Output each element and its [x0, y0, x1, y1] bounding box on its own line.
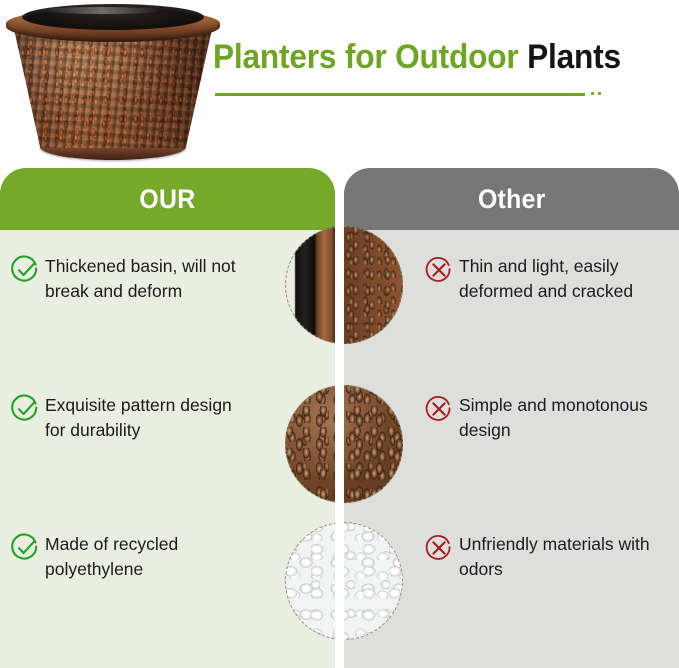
feature-text-ours-1: Thickened basin, will not break and defo… — [45, 254, 251, 304]
title-underline-dot — [591, 92, 594, 95]
wall-texture-overlay — [335, 226, 403, 344]
x-circle-icon — [424, 533, 454, 563]
wall-thickness-image — [285, 226, 403, 344]
pebble-pattern-image — [285, 385, 403, 503]
check-circle-icon — [10, 394, 40, 424]
panel-ours-header-label: OUR — [139, 184, 195, 215]
detail-photo-pebble-pattern — [285, 385, 403, 503]
check-circle-icon — [10, 255, 40, 285]
x-circle-icon — [424, 255, 454, 285]
check-circle-icon — [10, 533, 40, 563]
panel-ours-header: OUR — [0, 168, 335, 230]
feature-text-ours-2: Exquisite pattern design for durability — [45, 393, 251, 443]
feature-text-other-1: Thin and light, easily deformed and crac… — [459, 254, 671, 304]
pot-inner-highlight — [42, 7, 162, 14]
pebble-texture-overlay — [285, 385, 403, 503]
page-title: Planters for Outdoor Plants — [213, 40, 673, 76]
product-photo-planter — [4, 2, 222, 162]
comparison-table: OUR Thickened basin, will not break and … — [0, 168, 679, 668]
title-underline — [215, 93, 585, 96]
feature-text-ours-3: Made of recycled polyethylene — [45, 532, 251, 582]
pellets-image — [285, 522, 403, 640]
detail-photo-polyethylene-pellets — [285, 522, 403, 640]
feature-text-other-3: Unfriendly materials with odors — [459, 532, 671, 582]
title-underline-dot — [598, 92, 601, 95]
feature-text-other-2: Simple and monotonous design — [459, 393, 671, 443]
panel-divider — [335, 168, 344, 668]
hero-banner: Planters for Outdoor Plants — [0, 0, 679, 168]
panel-other-header-label: Other — [478, 184, 546, 215]
page-title-black-part: Plants — [527, 38, 621, 76]
panel-other-header: Other — [344, 168, 679, 230]
pellets-texture-overlay — [285, 522, 403, 640]
page-title-green-part: Planters for Outdoor — [213, 38, 518, 76]
x-circle-icon — [424, 394, 454, 424]
detail-photo-wall-thickness — [285, 226, 403, 344]
